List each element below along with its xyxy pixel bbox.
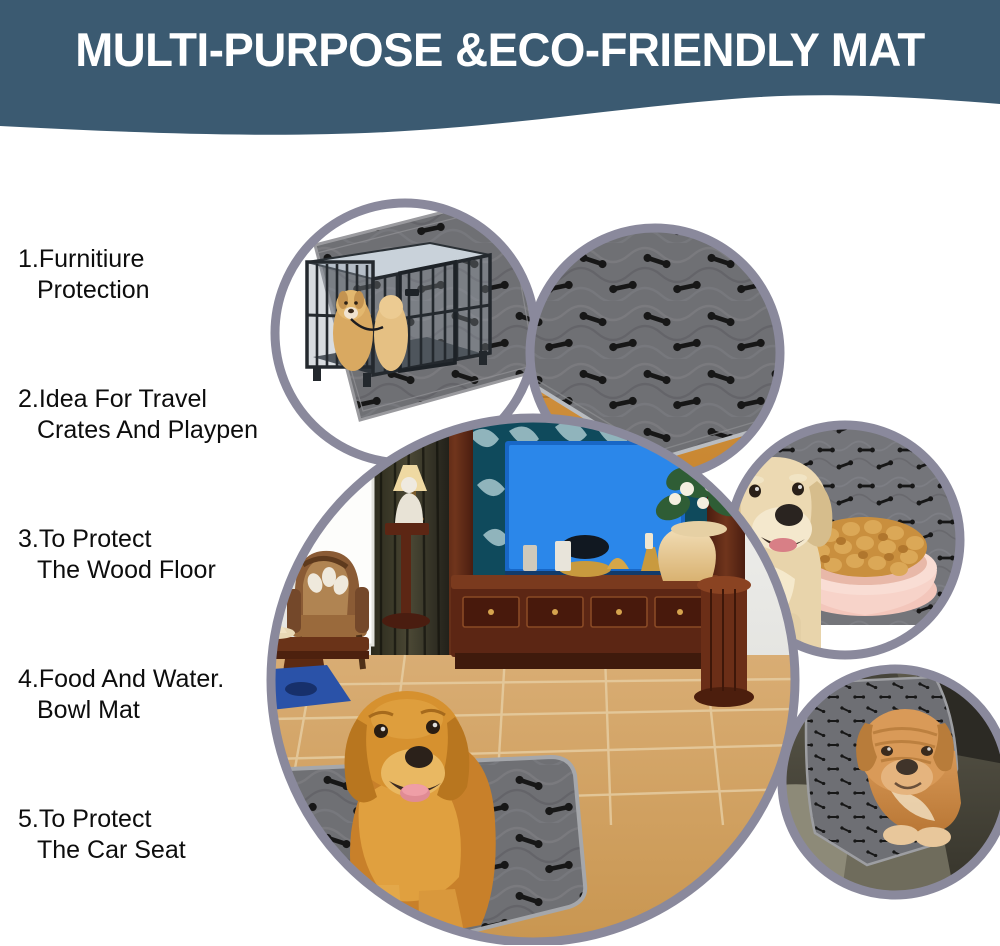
feature-3-line2: The Wood Floor	[18, 554, 280, 586]
circle-living-room-photo	[255, 418, 795, 945]
feature-4-line1: 4.Food And Water.	[18, 664, 280, 694]
product-infographic: MULTI-PURPOSE &ECO-FRIENDLY MAT 1.Furnit…	[0, 0, 1000, 946]
feature-list: 1.Furnitiure Protection 2.Idea For Trave…	[18, 240, 280, 866]
feature-item-1: 1.Furnitiure Protection	[18, 244, 280, 306]
feature-item-5: 5.To Protect The Car Seat	[18, 804, 280, 866]
feature-2-line1: 2.Idea For Travel	[18, 384, 280, 414]
feature-3-line1: 3.To Protect	[18, 524, 280, 554]
feature-1-line2: Protection	[18, 274, 280, 306]
circle-car-seat-photo	[780, 667, 1000, 897]
page-header: MULTI-PURPOSE &ECO-FRIENDLY MAT	[0, 0, 1000, 140]
feature-2-line2: Crates And Playpen	[18, 414, 280, 446]
feature-5-line1: 5.To Protect	[18, 804, 280, 834]
feature-item-3: 3.To Protect The Wood Floor	[18, 524, 280, 586]
feature-item-4: 4.Food And Water. Bowl Mat	[18, 664, 280, 726]
photo-collage	[255, 185, 1000, 945]
feature-4-line2: Bowl Mat	[18, 694, 280, 726]
feature-5-line2: The Car Seat	[18, 834, 280, 866]
page-title: MULTI-PURPOSE &ECO-FRIENDLY MAT	[15, 22, 985, 77]
feature-1-line1: 1.Furnitiure	[18, 244, 280, 274]
feature-item-2: 2.Idea For Travel Crates And Playpen	[18, 384, 280, 446]
